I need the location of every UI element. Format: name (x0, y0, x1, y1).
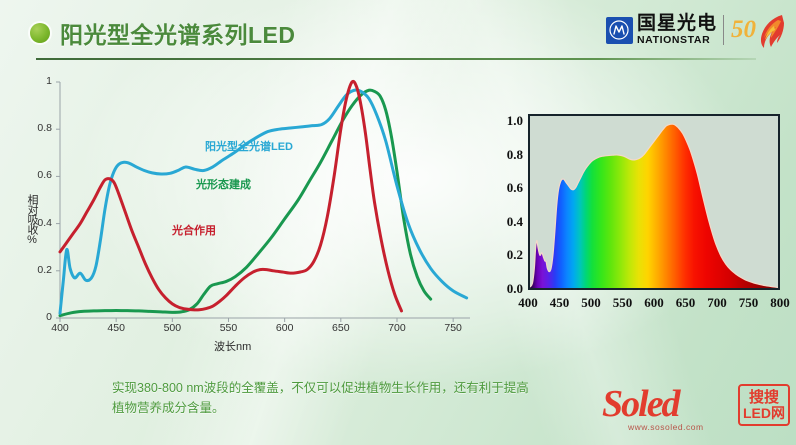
watermark-badge-line-2: LED网 (743, 406, 785, 421)
spectrum-y-tick-label: 0.6 (492, 180, 523, 196)
caption-line-1: 实现380-800 nm波段的全覆盖，不仅可以促进植物生长作用，还有利于提高 (112, 378, 642, 398)
series-label-2: 光合作用 (172, 222, 216, 238)
spectrum-y-tick-label: 0.8 (492, 147, 523, 163)
page-title: 阳光型全光谱系列LED (60, 16, 296, 50)
title-bullet-icon (30, 23, 50, 43)
logo-divider (723, 15, 724, 45)
header-divider (36, 58, 756, 60)
spectrum-y-tick-label: 0.2 (492, 247, 523, 263)
series-label-0: 阳光型全光谱LED (205, 138, 293, 154)
phoenix-icon (752, 12, 786, 50)
logo-wordmark: 国星光电 NATIONSTAR (637, 14, 717, 46)
spectrum-plot-frame (528, 114, 780, 290)
slide-header: 阳光型全光谱系列LED 国星光电 NATIONSTAR 50 (0, 0, 796, 62)
nationstar-mark-icon (606, 17, 633, 44)
spectrum-chart: 0.00.20.40.60.81.0 400450500550600650700… (492, 112, 782, 312)
logo-chinese-name: 国星光电 (637, 14, 717, 33)
watermark-badge: 搜搜 LED网 (738, 384, 790, 426)
company-logo: 国星光电 NATIONSTAR 50 (606, 9, 786, 51)
spectrum-area (530, 124, 778, 288)
site-watermark: Soled www.sosoled.com 搜搜 LED网 (600, 378, 792, 440)
caption-line-2: 植物营养成分含量。 (112, 398, 642, 418)
spectrum-y-tick-label: 1.0 (492, 113, 523, 129)
absorption-plot-area (18, 66, 486, 360)
absorption-chart: 相对吸收% 波长nm 00.20.40.60.81 40045050055060… (18, 66, 486, 360)
series-line-2 (60, 81, 401, 311)
watermark-badge-line-1: 搜搜 (749, 390, 779, 406)
caption-block: 实现380-800 nm波段的全覆盖，不仅可以促进植物生长作用，还有利于提高 植… (112, 378, 642, 418)
spectrum-plot-area (530, 116, 778, 288)
spectrum-x-tick-label: 800 (760, 295, 796, 311)
anniversary-badge: 50 (730, 10, 786, 50)
watermark-brand: Soled (602, 382, 679, 426)
spectrum-y-tick-label: 0.4 (492, 214, 523, 230)
series-label-1: 光形态建成 (196, 176, 251, 192)
logo-english-name: NATIONSTAR (637, 35, 717, 46)
watermark-url: www.sosoled.com (628, 422, 704, 432)
slide-canvas: 阳光型全光谱系列LED 国星光电 NATIONSTAR 50 (0, 0, 796, 445)
